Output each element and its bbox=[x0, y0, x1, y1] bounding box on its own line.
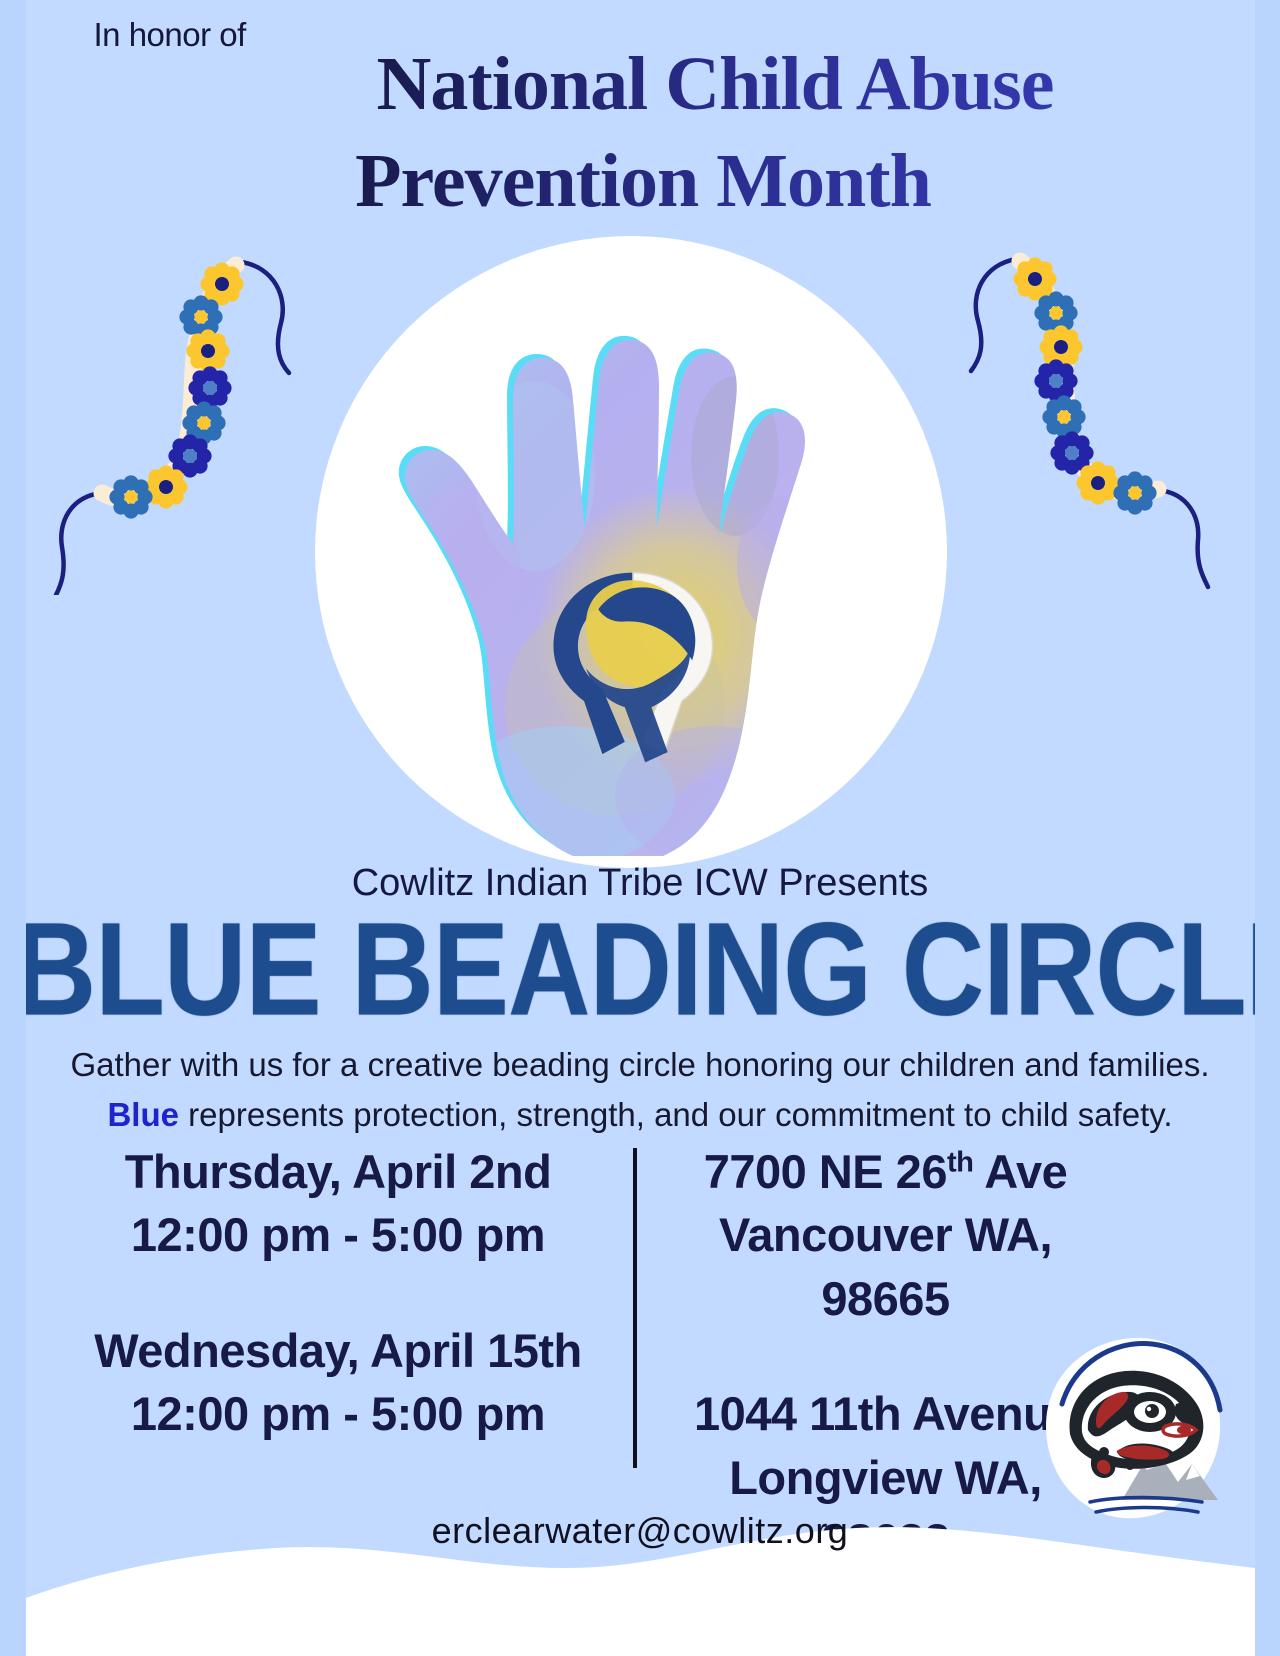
event-title: BLUE BEADING CIRCLE bbox=[26, 900, 1255, 1039]
event-1-address-ordinal-suffix: th bbox=[947, 1146, 974, 1178]
beaded-flower-chain-right-icon bbox=[946, 225, 1236, 600]
page-title: National Child Abuse Prevention Month bbox=[26, 36, 1255, 231]
flower-bead bbox=[109, 262, 243, 518]
event-1-time: 12:00 pm - 5:00 pm bbox=[66, 1203, 611, 1266]
event-1-address-line-2: Vancouver WA, 98665 bbox=[651, 1203, 1121, 1330]
schedule-dates-column: Thursday, April 2nd 12:00 pm - 5:00 pm W… bbox=[66, 1140, 611, 1446]
schedule-divider bbox=[633, 1148, 637, 1468]
event-1-address-street-number: 7700 NE 26 bbox=[704, 1145, 947, 1198]
beaded-flower-chain-left-icon bbox=[36, 225, 316, 600]
handprint-hero-image bbox=[315, 236, 947, 868]
event-1-address-street-type: Ave bbox=[973, 1145, 1067, 1198]
description-line-2: Blue represents protection, strength, an… bbox=[26, 1090, 1255, 1140]
event-1-datetime: Thursday, April 2nd 12:00 pm - 5:00 pm bbox=[66, 1140, 611, 1267]
description-line-2-rest: represents protection, strength, and our… bbox=[179, 1096, 1173, 1133]
page-title-line-2: Prevention Month bbox=[26, 133, 1255, 230]
event-2-date: Wednesday, April 15th bbox=[66, 1319, 611, 1382]
event-2-datetime: Wednesday, April 15th 12:00 pm - 5:00 pm bbox=[66, 1319, 611, 1446]
event-description: Gather with us for a creative beading ci… bbox=[26, 1040, 1255, 1139]
event-1-address-line-1: 7700 NE 26th Ave bbox=[651, 1140, 1121, 1203]
flyer-canvas: In honor of National Child Abuse Prevent… bbox=[26, 0, 1255, 1656]
event-1-date: Thursday, April 2nd bbox=[66, 1140, 611, 1203]
event-1-location: 7700 NE 26th Ave Vancouver WA, 98665 bbox=[651, 1140, 1121, 1330]
event-2-time: 12:00 pm - 5:00 pm bbox=[66, 1382, 611, 1445]
contact-email[interactable]: erclearwater@cowlitz.org bbox=[26, 1510, 1255, 1552]
flower-bead bbox=[1013, 257, 1156, 514]
page-title-line-1: National Child Abuse bbox=[26, 36, 1255, 133]
description-line-1: Gather with us for a creative beading ci… bbox=[26, 1040, 1255, 1090]
blue-keyword: Blue bbox=[107, 1096, 179, 1133]
footer-blob-shape bbox=[26, 1476, 1255, 1656]
